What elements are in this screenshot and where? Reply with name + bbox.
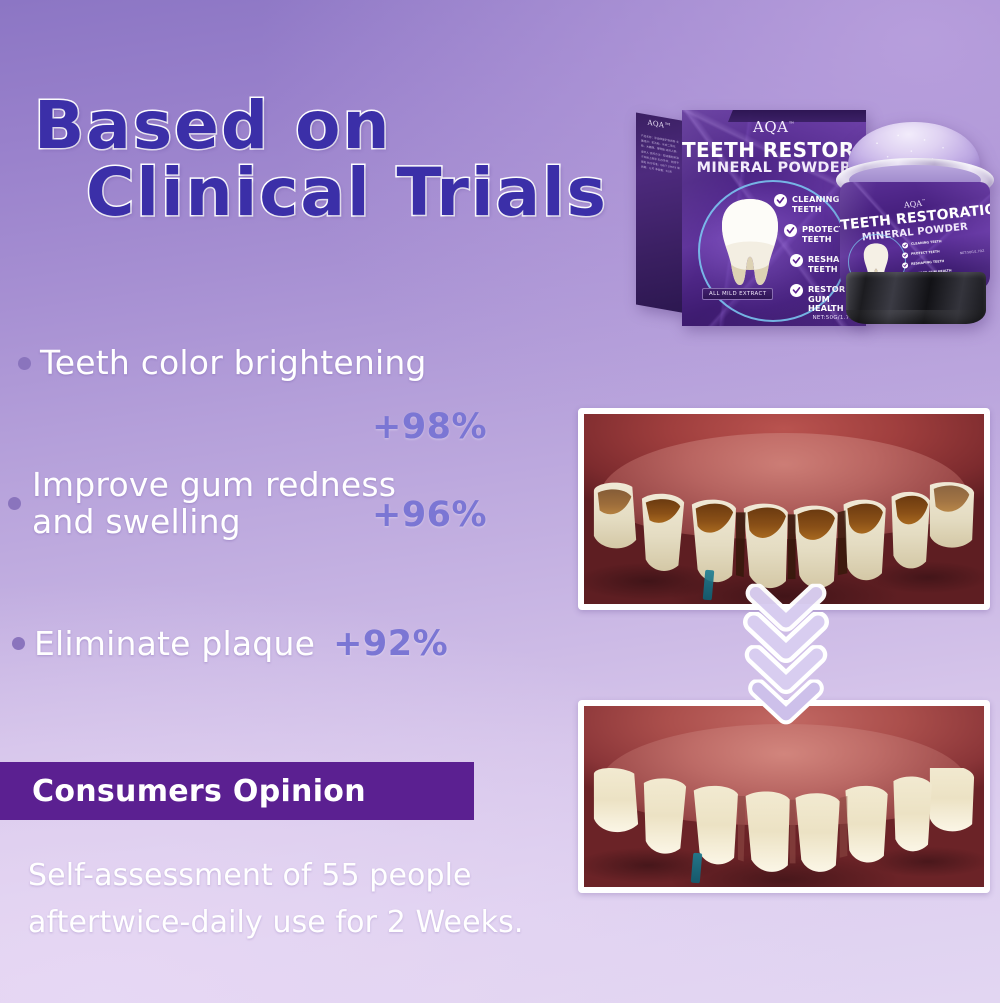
jar-feature-label: PROTECT TEETH bbox=[911, 251, 940, 257]
headline-line-1: Based on bbox=[34, 96, 608, 157]
jar-feature-item: CLEANING TEETH bbox=[902, 237, 964, 248]
benefit-label: Improve gum redness and swelling bbox=[32, 467, 396, 540]
clean-teeth bbox=[592, 768, 976, 880]
product-jar: AQA™ TEETH RESTORATION MINERAL POWDER bbox=[834, 122, 996, 332]
check-icon bbox=[790, 284, 803, 297]
after-photo-content bbox=[584, 706, 984, 887]
box-trademark-symbol: ™ bbox=[788, 121, 795, 128]
bullet-dot-icon bbox=[8, 497, 21, 510]
jar-trademark-symbol: ™ bbox=[922, 198, 927, 203]
footnote-text: Self-assessment of 55 people aftertwice-… bbox=[28, 852, 588, 947]
before-photo-content bbox=[584, 414, 984, 604]
jar-feature-label: CLEANING TEETH bbox=[911, 240, 942, 246]
box-brand-text: AQA bbox=[753, 118, 788, 136]
transition-arrows bbox=[742, 582, 830, 722]
tooth-illustration-icon bbox=[718, 196, 782, 288]
benefit-percent: +92% bbox=[333, 624, 448, 664]
product-box: AQA™ 产品名称：牙齿修复矿物质粉 主要成分：羾石粉、水合二氧化硅、木糖醇、薄… bbox=[636, 110, 866, 326]
jar-base bbox=[846, 272, 986, 324]
benefit-item-gum-redness: Improve gum redness and swelling +96% bbox=[0, 467, 560, 540]
chevron-down-icon bbox=[747, 679, 824, 730]
product-box-side-panel: AQA™ 产品名称：牙齿修复矿物质粉 主要成分：羾石粉、水合二氧化硅、木糖醇、薄… bbox=[636, 113, 684, 313]
side-ingredients-text: 产品名称：牙齿修复矿物质粉 主要成分：羾石粉、水合二氧化硅、木糖醇、薄荷脂 适用… bbox=[641, 133, 680, 176]
bullet-dot-icon bbox=[12, 637, 25, 650]
jar-feature-item: PROTECT TEETH bbox=[902, 247, 964, 258]
check-icon bbox=[784, 224, 797, 237]
benefit-label-line-1: Improve gum redness bbox=[32, 465, 396, 504]
benefit-item-plaque: Eliminate plaque +92% bbox=[0, 624, 560, 664]
benefit-item-brightening: Teeth color brightening +98% bbox=[0, 345, 560, 381]
side-brand-label: AQA™ bbox=[636, 117, 683, 133]
banner-label: Consumers Opinion bbox=[32, 774, 366, 809]
footnote-line-1: Self-assessment of 55 people bbox=[28, 852, 588, 899]
footnote-line-2: aftertwice-daily use for 2 Weeks. bbox=[28, 899, 588, 946]
benefit-percent: +98% bbox=[372, 407, 487, 447]
benefit-percent: +96% bbox=[372, 495, 487, 535]
product-image-group: AQA™ 产品名称：牙齿修复矿物质粉 主要成分：羾石粉、水合二氧化硅、木糖醇、薄… bbox=[636, 104, 1000, 332]
page-title: Based on Clinical Trials bbox=[34, 96, 608, 223]
jar-feature-label: RESHAPING TEETH bbox=[911, 260, 945, 267]
check-icon bbox=[774, 194, 787, 207]
promo-poster: Based on Clinical Trials AQA™ 产品名称：牙齿修复矿… bbox=[0, 0, 1000, 1003]
benefit-label: Teeth color brightening bbox=[40, 345, 427, 381]
bullet-dot-icon bbox=[18, 357, 31, 370]
benefit-label-line-2: and swelling bbox=[32, 502, 241, 541]
benefit-label: Eliminate plaque bbox=[34, 626, 315, 662]
consumers-opinion-banner: Consumers Opinion bbox=[0, 762, 474, 820]
teeth-with-tartar bbox=[592, 479, 976, 597]
jar-brand-text: AQA bbox=[904, 199, 923, 210]
check-icon bbox=[902, 252, 909, 259]
check-icon bbox=[902, 242, 909, 249]
headline-line-2: Clinical Trials bbox=[86, 163, 608, 224]
before-photo bbox=[578, 408, 990, 610]
mild-extract-badge: ALL MILD EXTRACT bbox=[702, 288, 773, 300]
jar-feature-item: RESHAPING TEETH bbox=[902, 257, 964, 268]
check-icon bbox=[790, 254, 803, 267]
benefit-list: Teeth color brightening +98% Improve gum… bbox=[0, 345, 560, 664]
check-icon bbox=[902, 262, 909, 269]
